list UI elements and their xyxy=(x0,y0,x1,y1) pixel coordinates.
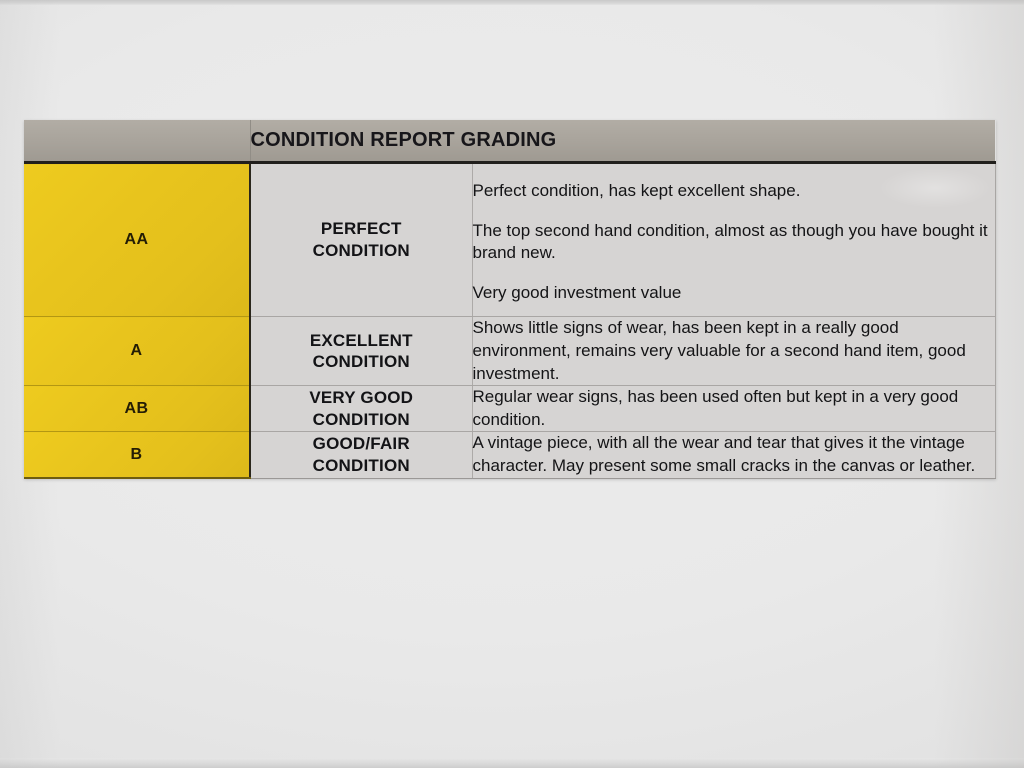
description-paragraph: Perfect condition, has kept excellent sh… xyxy=(473,180,995,203)
condition-label-line2: CONDITION xyxy=(313,456,410,475)
description-aa: Perfect condition, has kept excellent sh… xyxy=(472,163,995,317)
condition-label-line2: CONDITION xyxy=(313,241,410,260)
table-row: AB VERY GOOD CONDITION Regular wear sign… xyxy=(24,386,995,432)
table-header-row: CONDITION REPORT GRADING xyxy=(24,120,995,163)
paper-bottom-edge xyxy=(0,758,1024,768)
description-ab: Regular wear signs, has been used often … xyxy=(472,386,995,432)
grade-label: AB xyxy=(125,400,149,417)
condition-label-line2: CONDITION xyxy=(313,352,410,371)
condition-label-line1: EXCELLENT xyxy=(310,331,413,350)
table-row: A EXCELLENT CONDITION Shows little signs… xyxy=(24,317,995,386)
grade-label: A xyxy=(131,342,143,359)
header-spacer-cell xyxy=(24,120,250,163)
condition-label-line1: PERFECT xyxy=(321,219,402,238)
condition-report-grading-table: CONDITION REPORT GRADING AA PERFECT COND… xyxy=(24,120,996,479)
page-title: CONDITION REPORT GRADING xyxy=(250,120,995,163)
grade-label: AA xyxy=(125,231,149,248)
grade-badge-b: B xyxy=(24,432,250,478)
grade-badge-a: A xyxy=(24,317,250,386)
condition-label-line1: GOOD/FAIR xyxy=(313,434,410,453)
description-paragraph: The top second hand condition, almost as… xyxy=(473,220,995,265)
description-b: A vintage piece, with all the wear and t… xyxy=(472,432,995,478)
grade-badge-aa: AA xyxy=(24,163,250,317)
condition-label-b: GOOD/FAIR CONDITION xyxy=(250,432,472,478)
table-row: B GOOD/FAIR CONDITION A vintage piece, w… xyxy=(24,432,995,478)
condition-label-aa: PERFECT CONDITION xyxy=(250,163,472,317)
condition-label-ab: VERY GOOD CONDITION xyxy=(250,386,472,432)
condition-label-a: EXCELLENT CONDITION xyxy=(250,317,472,386)
table-row: AA PERFECT CONDITION Perfect condition, … xyxy=(24,163,995,317)
description-a: Shows little signs of wear, has been kep… xyxy=(472,317,995,386)
description-paragraph: Very good investment value xyxy=(473,282,995,305)
description-paragraph: Shows little signs of wear, has been kep… xyxy=(473,317,995,385)
condition-label-line2: CONDITION xyxy=(313,410,410,429)
paper-top-edge xyxy=(0,0,1024,5)
description-paragraph: Regular wear signs, has been used often … xyxy=(473,386,995,431)
grade-label: B xyxy=(131,446,143,463)
condition-label-line1: VERY GOOD xyxy=(309,388,413,407)
grade-badge-ab: AB xyxy=(24,386,250,432)
description-paragraph: A vintage piece, with all the wear and t… xyxy=(473,432,995,477)
